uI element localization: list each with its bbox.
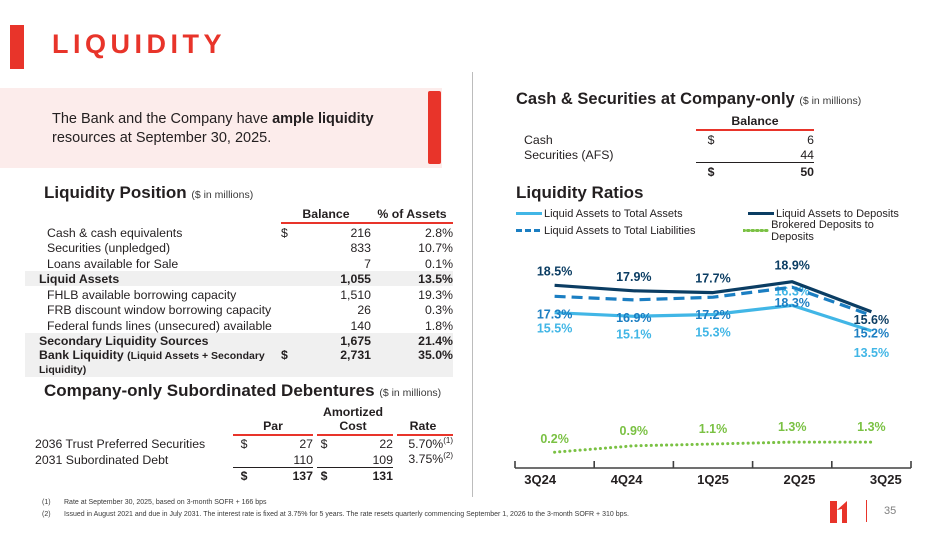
row-label: 2036 Trust Preferred Securities: [35, 436, 233, 452]
table-row: 2031 Subordinated Debt 110 109 3.75%(2): [35, 451, 453, 467]
row-pct: 1.8%: [371, 317, 453, 333]
row-dollar: $: [696, 131, 726, 147]
x-tick-label: 3Q25: [843, 472, 929, 487]
footnote-row: (1) Rate at September 30, 2025, based on…: [42, 498, 629, 510]
chart-x-axis-labels: 3Q24 4Q24 1Q25 2Q25 3Q25: [497, 472, 929, 487]
table-row: FRB discount window borrowing capacity 2…: [25, 302, 453, 318]
row-balance: 216: [299, 224, 371, 240]
footnote-number: (1): [42, 498, 64, 510]
row-dollar: [281, 317, 299, 333]
table-row: 2036 Trust Preferred Securities $ 27 $ 2…: [35, 436, 453, 452]
footnote-text: Issued in August 2021 and due in July 20…: [64, 510, 629, 522]
chart-data-label: 15.2%: [854, 326, 889, 340]
row-rate: 3.75%: [408, 453, 443, 467]
row-pct: 19.3%: [371, 286, 453, 302]
row-balance: 6: [726, 131, 814, 147]
row-dollar: $: [281, 224, 299, 240]
table-row: Securities (AFS) 44: [524, 147, 814, 163]
row-pct: 21.4%: [371, 333, 453, 349]
chart-data-label: 18.3%: [774, 296, 809, 310]
row-label: 2031 Subordinated Debt: [35, 451, 233, 467]
chart-line-3: [555, 442, 872, 452]
row-rate-footnote-ref: (1): [443, 436, 453, 445]
chart-data-label: 1.3%: [857, 420, 886, 434]
row-balance: 44: [726, 147, 814, 163]
table-row: FHLB available borrowing capacity 1,510 …: [25, 286, 453, 302]
row-balance: 1,055: [299, 271, 371, 287]
col-header-pct-assets: % of Assets: [371, 207, 453, 222]
row-dollar: [281, 271, 299, 287]
legend-row-2: Liquid Assets to Total Liabilities Broke…: [516, 222, 916, 239]
footnotes: (1) Rate at September 30, 2025, based on…: [42, 498, 629, 521]
chart-data-label: 15.1%: [616, 327, 651, 341]
table-row-total: $ 137 $ 131: [35, 468, 453, 484]
row-par-dollar: $: [233, 436, 255, 452]
table-row: Securities (unpledged) 833 10.7%: [25, 240, 453, 256]
chart-legend: Liquid Assets to Total Assets Liquid Ass…: [516, 205, 916, 239]
legend-item-brokered-deposits-deposits: Brokered Deposits to Deposits: [743, 219, 916, 243]
legend-item-liquid-assets-total-assets: Liquid Assets to Total Assets: [516, 208, 748, 220]
row-cost: 109: [335, 451, 393, 467]
total-par: 137: [255, 468, 313, 484]
legend-swatch-dashed-blue: [516, 225, 542, 236]
row-dollar: [281, 302, 299, 318]
liquidity-position-heading: Liquidity Position ($ in millions): [44, 183, 253, 203]
liquidity-position-unit: ($ in millions): [191, 189, 253, 201]
total-row-dollar: $: [281, 348, 299, 377]
row-dollar: [281, 240, 299, 256]
liquidity-position-table: Balance % of Assets Cash & cash equivale…: [25, 207, 453, 377]
liquidity-ratios-chart: 15.5%15.1%15.3%16.3%13.5%18.5%17.9%17.7%…: [497, 240, 929, 480]
table-header-row: Balance: [524, 114, 814, 129]
row-dollar: [281, 333, 299, 349]
row-balance: 1,510: [299, 286, 371, 302]
subordinated-debentures-title: Company-only Subordinated Debentures: [44, 381, 375, 400]
liquidity-ratios-heading: Liquidity Ratios: [516, 183, 644, 203]
footnote-text: Rate at September 30, 2025, based on 3-m…: [64, 498, 629, 510]
row-label: Secondary Liquidity Sources: [25, 333, 281, 349]
row-cost: 22: [335, 436, 393, 452]
col-header-balance: Balance: [281, 207, 371, 222]
company-logo-icon: [828, 500, 850, 524]
chart-data-label: 18.5%: [537, 264, 572, 278]
row-par: 110: [255, 451, 313, 467]
col-header-rate: Rate: [393, 419, 453, 434]
callout-text-bold: ample liquidity: [272, 111, 374, 127]
row-label: Securities (AFS): [524, 147, 696, 163]
chart-data-label: 13.5%: [854, 346, 889, 360]
table-row-subtotal: Liquid Assets 1,055 13.5%: [25, 271, 453, 287]
row-balance: 140: [299, 317, 371, 333]
col-superheader-amortized: Amortized: [313, 403, 393, 419]
col-header-par: Par: [233, 419, 313, 434]
legend-swatch-solid-navy: [748, 208, 774, 219]
page-number: 35: [884, 505, 896, 517]
row-dollar: [696, 147, 726, 163]
row-cost-dollar: $: [313, 436, 335, 452]
row-label: Loans available for Sale: [25, 255, 281, 271]
row-pct: 0.1%: [371, 255, 453, 271]
row-balance: 26: [299, 302, 371, 318]
chart-svg: 15.5%15.1%15.3%16.3%13.5%18.5%17.9%17.7%…: [497, 240, 929, 480]
chart-data-label: 0.9%: [620, 424, 649, 438]
col-header-cost: Cost: [313, 419, 393, 434]
row-balance: 833: [299, 240, 371, 256]
callout-text-before: The Bank and the Company have: [52, 111, 272, 127]
table-row: Loans available for Sale 7 0.1%: [25, 255, 453, 271]
row-dollar: [281, 286, 299, 302]
chart-data-label: 15.6%: [854, 313, 889, 327]
row-rate-footnote-ref: (2): [443, 451, 453, 460]
chart-data-label: 15.5%: [537, 322, 572, 336]
cash-securities-heading: Cash & Securities at Company-only ($ in …: [516, 90, 861, 109]
chart-data-label: 15.3%: [695, 326, 730, 340]
row-cost-dollar: [313, 451, 335, 467]
legend-item-liquid-assets-total-liabilities: Liquid Assets to Total Liabilities: [516, 225, 743, 237]
vertical-divider: [472, 72, 473, 497]
chart-data-label: 16.9%: [616, 311, 651, 325]
total-row-pct: 35.0%: [371, 348, 453, 377]
legend-label: Brokered Deposits to Deposits: [771, 219, 916, 243]
total-cost-dollar: $: [313, 468, 335, 484]
table-header-row: Balance % of Assets: [25, 207, 453, 222]
row-label: Liquid Assets: [25, 271, 281, 287]
table-row: Cash & cash equivalents $ 216 2.8%: [25, 224, 453, 240]
row-balance: 1,675: [299, 333, 371, 349]
x-tick-label: 4Q24: [583, 472, 669, 487]
x-tick-label: 1Q25: [670, 472, 756, 487]
table-row: Cash $ 6: [524, 131, 814, 147]
chart-data-label: 17.2%: [695, 308, 730, 322]
chart-data-label: 17.7%: [695, 272, 730, 286]
row-pct: 13.5%: [371, 271, 453, 287]
callout-text: The Bank and the Company have ample liqu…: [52, 110, 402, 148]
table-row: Federal funds lines (unsecured) availabl…: [25, 317, 453, 333]
footer-divider: [866, 500, 867, 522]
footnote-number: (2): [42, 510, 64, 522]
cash-securities-title: Cash & Securities at Company-only: [516, 90, 795, 108]
footnote-row: (2) Issued in August 2021 and due in Jul…: [42, 510, 629, 522]
chart-data-label: 18.9%: [774, 259, 809, 273]
chart-data-label: 1.1%: [699, 422, 728, 436]
super-header-row: Amortized: [35, 403, 453, 419]
row-balance: 7: [299, 255, 371, 271]
title-accent-bar: [10, 25, 24, 69]
total-cost: 131: [335, 468, 393, 484]
callout-accent-bar: [428, 91, 441, 164]
row-pct: 10.7%: [371, 240, 453, 256]
x-tick-label: 3Q24: [497, 472, 583, 487]
table-row-total: $ 50: [524, 163, 814, 179]
col-header-balance: Balance: [696, 114, 814, 129]
row-label: FRB discount window borrowing capacity: [25, 302, 281, 318]
table-header-row: Par Cost Rate: [35, 419, 453, 434]
legend-swatch-dotted-green: [743, 225, 769, 236]
subordinated-debentures-unit: ($ in millions): [379, 387, 441, 399]
table-row-subtotal: Secondary Liquidity Sources 1,675 21.4%: [25, 333, 453, 349]
table-row-total: Bank Liquidity (Liquid Assets + Secondar…: [25, 348, 453, 377]
legend-swatch-solid-light-blue: [516, 208, 542, 219]
row-label: Securities (unpledged): [25, 240, 281, 256]
cash-securities-table: Balance Cash $ 6 Securities (AFS) 44 $ 5…: [524, 114, 814, 179]
chart-data-label: 1.3%: [778, 420, 807, 434]
x-tick-label: 2Q25: [756, 472, 842, 487]
callout-text-after: resources at September 30, 2025.: [52, 130, 271, 146]
subordinated-debentures-heading: Company-only Subordinated Debentures ($ …: [44, 381, 441, 401]
row-rate: 5.70%: [408, 437, 443, 451]
row-par: 27: [255, 436, 313, 452]
row-par-dollar: [233, 451, 255, 467]
row-label: Federal funds lines (unsecured) availabl…: [25, 317, 281, 333]
legend-label: Liquid Assets to Total Assets: [544, 208, 683, 220]
legend-label: Liquid Assets to Total Liabilities: [544, 225, 695, 237]
row-pct: 0.3%: [371, 302, 453, 318]
total-par-dollar: $: [233, 468, 255, 484]
chart-data-label: 0.2%: [540, 432, 569, 446]
total-row-balance: 2,731: [299, 348, 371, 377]
chart-data-label: 17.9%: [616, 270, 651, 284]
page-title: LIQUIDITY: [52, 29, 226, 60]
row-label: FHLB available borrowing capacity: [25, 286, 281, 302]
chart-data-label: 17.3%: [537, 307, 572, 321]
total-balance: 50: [726, 163, 814, 179]
liquidity-position-title: Liquidity Position: [44, 183, 187, 202]
row-dollar: [281, 255, 299, 271]
row-pct: 2.8%: [371, 224, 453, 240]
subordinated-debentures-table: Amortized Par Cost Rate 2036 Trust Prefe…: [35, 403, 453, 483]
row-label: Cash & cash equivalents: [25, 224, 281, 240]
cash-securities-unit: ($ in millions): [799, 95, 861, 107]
total-dollar: $: [696, 163, 726, 179]
total-row-label: Bank Liquidity: [39, 348, 127, 362]
row-label: Cash: [524, 131, 696, 147]
